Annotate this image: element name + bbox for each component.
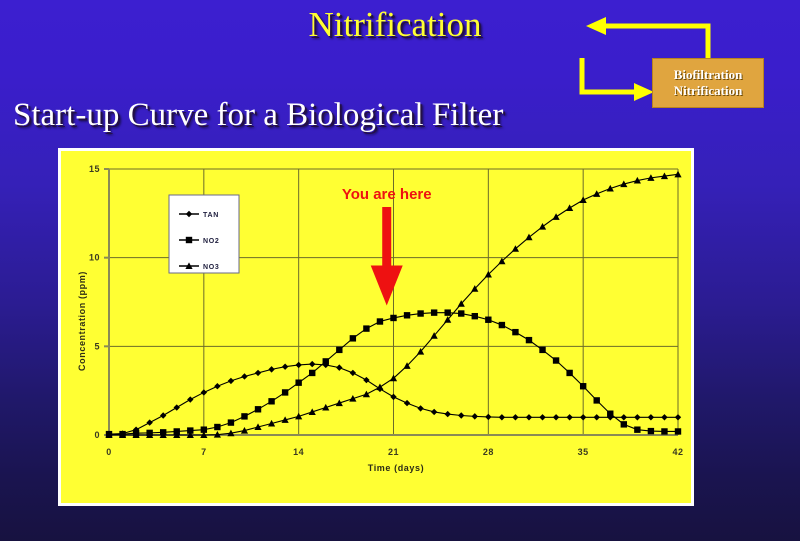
series-marker: [241, 413, 247, 419]
series-marker: [648, 428, 654, 434]
y-tick-label: 10: [89, 253, 100, 263]
series-marker: [214, 424, 220, 430]
series-marker: [228, 419, 234, 425]
series-marker: [336, 347, 342, 353]
series-marker: [539, 347, 545, 353]
chart-legend[interactable]: TANNO2NO3: [169, 195, 239, 273]
series-marker: [566, 414, 572, 420]
series-marker: [377, 318, 383, 324]
x-axis-label: Time (days): [368, 463, 424, 473]
series-marker: [675, 414, 681, 420]
legend-label: NO3: [203, 264, 220, 271]
series-marker: [580, 383, 586, 389]
inbound-arrow: [582, 58, 654, 101]
series-marker: [444, 411, 450, 417]
x-tick-label: 14: [293, 447, 304, 457]
series-marker: [201, 389, 207, 395]
x-tick-label: 35: [578, 447, 589, 457]
series-marker: [295, 379, 301, 385]
series-marker: [526, 414, 532, 420]
series-marker: [594, 414, 600, 420]
series-marker: [228, 378, 234, 384]
series-marker: [580, 196, 587, 203]
series-marker: [594, 397, 600, 403]
series-marker: [214, 383, 220, 389]
series-marker: [255, 406, 261, 412]
x-tick-label: 21: [388, 447, 399, 457]
series-marker: [350, 335, 356, 341]
series-marker: [458, 310, 464, 316]
series-marker: [675, 428, 681, 434]
legend-swatch-marker: [186, 237, 192, 243]
annotation-arrow-icon: [371, 207, 403, 306]
series-marker: [566, 370, 572, 376]
series-marker: [363, 325, 369, 331]
series-marker: [282, 389, 288, 395]
series-marker: [553, 414, 559, 420]
series-marker: [621, 414, 627, 420]
annotation-label: You are here: [342, 186, 432, 203]
series-marker: [539, 414, 545, 420]
flow-box-line-1: Biofiltration: [674, 67, 743, 83]
series-marker: [417, 405, 423, 411]
series-marker: [593, 190, 600, 197]
legend-label: TAN: [203, 212, 219, 219]
series-marker: [674, 171, 681, 178]
series-marker: [336, 364, 342, 370]
series-marker: [499, 322, 505, 328]
series-marker: [268, 366, 274, 372]
series-marker: [417, 310, 423, 316]
series-marker: [621, 421, 627, 427]
y-tick-label: 15: [89, 164, 100, 174]
series-marker: [174, 404, 180, 410]
series-marker: [512, 414, 518, 420]
series-marker: [661, 428, 667, 434]
flow-box-line-2: Nitrification: [674, 83, 743, 99]
series-marker: [404, 400, 410, 406]
series-marker: [255, 370, 261, 376]
series-marker: [472, 313, 478, 319]
y-axis-label: Concentration (ppm): [77, 271, 87, 371]
series-marker: [282, 364, 288, 370]
series-marker: [539, 223, 546, 230]
series-marker: [309, 361, 315, 367]
legend-box: [169, 195, 239, 273]
series-marker: [566, 204, 573, 211]
series-marker: [363, 377, 369, 383]
series-marker: [526, 337, 532, 343]
legend-label: NO2: [203, 238, 220, 245]
series-marker: [444, 309, 450, 315]
series-marker: [295, 362, 301, 368]
x-tick-label: 7: [201, 447, 207, 457]
series-marker: [431, 409, 437, 415]
chart-panel: 051015071421283542 Time (days) Concentra…: [58, 148, 694, 506]
series-marker: [350, 370, 356, 376]
series-marker: [499, 414, 505, 420]
series-marker: [580, 414, 586, 420]
series-marker: [323, 358, 329, 364]
series-marker: [404, 312, 410, 318]
series-marker: [160, 412, 166, 418]
series-marker: [648, 414, 654, 420]
series-marker: [458, 412, 464, 418]
y-tick-label: 5: [94, 341, 100, 351]
series-marker: [146, 419, 152, 425]
series-marker: [607, 411, 613, 417]
series-marker: [363, 391, 370, 398]
series-marker: [553, 357, 559, 363]
series-marker: [309, 370, 315, 376]
series-marker: [390, 315, 396, 321]
series-marker: [241, 373, 247, 379]
series-marker: [512, 329, 518, 335]
you-are-here-annotation: You are here: [342, 186, 432, 306]
series-marker: [268, 398, 274, 404]
slide-canvas: Nitrification Start-up Curve for a Biolo…: [0, 0, 800, 541]
y-tick-label: 0: [94, 430, 100, 440]
series-marker: [634, 426, 640, 432]
series-marker: [472, 413, 478, 419]
x-tick-label: 28: [483, 447, 494, 457]
slide-subtitle: Start-up Curve for a Biological Filter: [13, 96, 503, 134]
startup-curve-chart: 051015071421283542 Time (days) Concentra…: [61, 151, 691, 503]
process-flow-diagram: Biofiltration Nitrification: [566, 10, 792, 118]
outbound-arrow: [586, 17, 708, 58]
series-marker: [485, 414, 491, 420]
x-tick-label: 42: [672, 447, 683, 457]
series-marker: [552, 213, 559, 220]
series-marker: [390, 394, 396, 400]
biofiltration-nitrification-box[interactable]: Biofiltration Nitrification: [652, 58, 764, 108]
annotation-arrow-head: [371, 266, 403, 306]
series-marker: [661, 414, 667, 420]
series-marker: [431, 309, 437, 315]
series-marker: [485, 317, 491, 323]
series-marker: [634, 414, 640, 420]
x-tick-label: 0: [106, 447, 112, 457]
series-marker: [187, 396, 193, 402]
